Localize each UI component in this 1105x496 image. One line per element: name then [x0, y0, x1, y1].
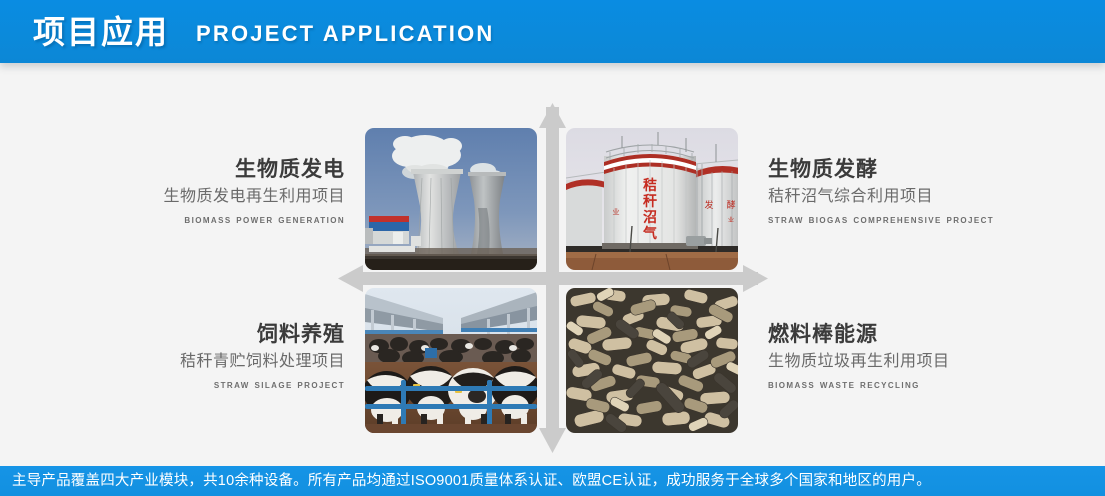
quadrant-label-biomass-power-generation: 生物质发电 生物质发电再生利用项目 Biomass power generati…: [10, 155, 345, 229]
quadrant-subtitle-cn: 生物质发电再生利用项目: [10, 184, 345, 209]
quadrant-label-feed-breeding: 饲料养殖 秸秆青贮饲料处理项目 Straw silage project: [10, 320, 345, 394]
photo-fuel-pellets-art: [566, 288, 738, 433]
photo-cattle-art: [365, 288, 537, 433]
svg-text:业: 业: [728, 216, 734, 224]
photo-fuel-rod-energy[interactable]: [566, 288, 738, 433]
svg-text:气: 气: [642, 225, 657, 242]
quadrant-subtitle-cn: 秸秆青贮饲料处理项目: [10, 349, 345, 374]
quadrant-subtitle-cn: 生物质垃圾再生利用项目: [768, 349, 1098, 374]
quadrant-title-en: Straw biogas comprehensive project: [768, 209, 1098, 229]
quadrant-title-en: Straw silage project: [10, 374, 345, 394]
arrow-horizontal-shaft: [350, 272, 758, 285]
quadrant-label-biomass-fermentation: 生物质发酵 秸秆沼气综合利用项目 Straw biogas comprehens…: [768, 155, 1098, 229]
quadrant-title-en: Biomass power generation: [10, 209, 345, 229]
svg-text:秆: 秆: [643, 193, 657, 210]
footer-note: 主导产品覆盖四大产业模块，共10余种设备。所有产品均通过ISO9001质量体系认…: [12, 466, 1097, 496]
arrow-down-head: [539, 428, 566, 453]
svg-text:业: 业: [613, 207, 620, 216]
page-footer-bar: 主导产品覆盖四大产业模块，共10余种设备。所有产品均通过ISO9001质量体系认…: [0, 466, 1105, 496]
quadrant-title-cn: 燃料棒能源: [768, 320, 1098, 349]
photo-label-jiegan-zhaoqi: 秸: [643, 177, 657, 194]
page-title-en: PROJECT APPLICATION: [196, 21, 495, 47]
page-title-cn: 项目应用: [33, 12, 169, 52]
svg-text:酵: 酵: [726, 200, 735, 211]
photo-label-fajiao: 发: [704, 199, 713, 211]
quadrant-label-fuel-rod-energy: 燃料棒能源 生物质垃圾再生利用项目 Biomass waste recyclin…: [768, 320, 1098, 394]
quadrant-title-cn: 生物质发电: [10, 155, 345, 184]
photo-biomass-fermentation[interactable]: 秸 秆 沼 气 业 发 酵 业: [566, 128, 738, 270]
quadrant-title-cn: 饲料养殖: [10, 320, 345, 349]
arrow-up-head: [539, 103, 566, 128]
photo-feed-breeding[interactable]: [365, 288, 537, 433]
quadrant-subtitle-cn: 秸秆沼气综合利用项目: [768, 184, 1098, 209]
quadrant-arrow-cross: [0, 0, 1105, 496]
arrow-right-head: [743, 265, 768, 292]
photo-biogas-tanks-art: 秸 秆 沼 气 业 发 酵 业: [566, 128, 738, 270]
page-header-bar: 项目应用 PROJECT APPLICATION: [0, 0, 1105, 63]
arrow-vertical-shaft: [546, 107, 559, 432]
project-application-page: 项目应用 PROJECT APPLICATION: [0, 0, 1105, 496]
quadrant-title-en: Biomass waste recycling: [768, 374, 1098, 394]
arrow-left-head: [338, 265, 363, 292]
photo-biomass-power-generation[interactable]: [365, 128, 537, 270]
photo-cooling-towers-art: [365, 128, 537, 270]
quadrant-title-cn: 生物质发酵: [768, 155, 1098, 184]
svg-text:沼: 沼: [643, 210, 657, 226]
